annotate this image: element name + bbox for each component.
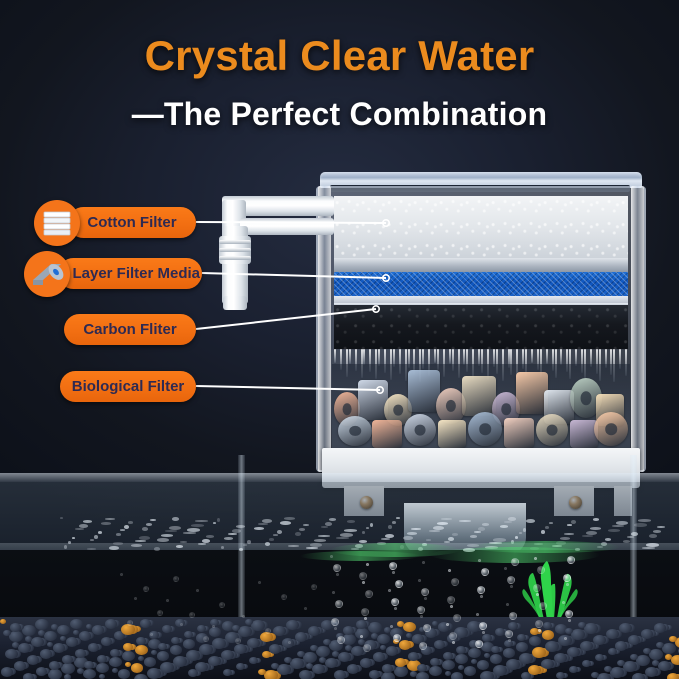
air-bubble: [424, 597, 427, 600]
gravel-pebble: [61, 663, 75, 674]
gravel-pebble: [140, 619, 151, 628]
gravel-pebble: [316, 646, 330, 657]
air-bubble: [333, 564, 341, 572]
surface-foam: [299, 528, 305, 531]
page-title: Crystal Clear Water: [0, 32, 679, 80]
gravel-pebble: [22, 625, 36, 636]
intake-pipe: [214, 196, 334, 486]
water-drip: [349, 349, 351, 364]
air-bubble: [481, 568, 489, 576]
water-spray-highlight: [300, 551, 420, 561]
gravel-pebble: [62, 655, 73, 664]
gravel-pebble: [595, 654, 604, 661]
surface-foam: [452, 533, 458, 536]
air-bubble: [389, 562, 397, 570]
gravel-pebble: [264, 670, 278, 679]
air-bubble: [476, 613, 479, 616]
air-bubble: [508, 639, 511, 642]
callout-label[interactable]: Carbon Fliter: [64, 314, 196, 345]
surface-foam: [280, 521, 291, 525]
gravel-pebble: [394, 666, 408, 677]
surface-foam: [370, 523, 373, 527]
gravel-pebble: [443, 652, 453, 660]
air-bubble: [535, 620, 543, 628]
gravel-pebble: [151, 650, 157, 655]
air-bubble: [567, 556, 575, 564]
gravel-pebble: [556, 672, 565, 679]
gravel-pebble: [66, 637, 78, 647]
surface-foam: [239, 548, 243, 551]
gravel-pebble: [517, 634, 526, 641]
product-marketing-image: Crystal Clear Water —The Perfect Combina…: [0, 0, 679, 679]
surface-foam: [388, 525, 392, 529]
surface-foam: [549, 522, 553, 524]
surface-foam: [213, 522, 216, 524]
pipe-ribbed-connector: [219, 236, 251, 264]
gravel-pebble: [649, 649, 663, 660]
gravel-pebble: [360, 658, 372, 668]
surface-foam: [407, 532, 417, 535]
surface-foam: [500, 525, 508, 528]
surface-foam: [254, 527, 264, 530]
gravel-pebble: [138, 656, 144, 661]
air-bubble: [539, 602, 547, 610]
surface-foam: [411, 528, 421, 530]
gravel-pebble: [410, 671, 417, 677]
surface-foam: [396, 517, 400, 519]
air-bubble: [449, 632, 457, 640]
gravel-pebble: [40, 649, 52, 659]
surface-foam: [657, 526, 665, 528]
gravel-pebble: [628, 635, 640, 645]
water-drip: [531, 349, 533, 363]
gravel-pebble: [135, 645, 148, 655]
surface-foam: [582, 535, 593, 537]
callout-2[interactable]: 8 Layer Filter Media: [58, 258, 202, 289]
gravel-pebble: [480, 671, 494, 679]
air-bubble: [478, 559, 481, 562]
gravel-pebble: [397, 621, 404, 627]
surface-foam: [381, 538, 390, 540]
air-bubble: [477, 586, 485, 594]
gravel-pebble: [343, 626, 354, 635]
surface-foam: [519, 532, 522, 534]
gravel-pebble: [373, 652, 385, 662]
air-bubble: [364, 617, 367, 620]
gravel-pebble: [332, 651, 339, 657]
air-bubble: [538, 629, 541, 632]
air-bubble: [335, 600, 343, 608]
gravel-pebble: [451, 672, 463, 679]
gravel-pebble: [377, 634, 390, 644]
gravel-pebble: [47, 642, 53, 647]
gravel-pebble: [543, 622, 552, 629]
air-bubble: [143, 586, 149, 592]
surface-foam: [128, 521, 133, 524]
gravel-pebble: [380, 645, 386, 650]
air-bubble: [392, 571, 395, 574]
surface-foam: [90, 539, 94, 541]
gravel-pebble: [79, 631, 91, 641]
gravel-pebble: [1, 667, 13, 677]
surface-foam: [277, 530, 282, 534]
page-subtitle: —The Perfect Combination: [0, 96, 679, 133]
gravel-pebble: [97, 655, 107, 663]
surface-foam: [236, 525, 245, 528]
air-bubble: [150, 633, 153, 636]
surface-foam: [310, 543, 322, 547]
surface-foam: [183, 532, 196, 534]
gravel-pebble: [641, 629, 653, 639]
gravel-pebble: [223, 669, 232, 676]
bio-media-piece: [462, 376, 496, 416]
surface-foam: [64, 545, 67, 549]
pipe-rib: [219, 240, 251, 244]
surface-foam: [564, 533, 574, 535]
carbon-filter-layer: [334, 305, 628, 349]
air-bubble: [157, 610, 163, 616]
gravel-pebble: [490, 654, 502, 664]
surface-foam: [362, 531, 365, 534]
gravel-pebble: [136, 637, 146, 645]
surface-foam: [560, 537, 570, 540]
gravel-pebble: [347, 664, 359, 674]
surface-foam: [631, 532, 638, 536]
surface-foam: [172, 517, 179, 521]
gravel-pebble: [96, 663, 109, 673]
surface-foam: [303, 524, 309, 526]
surface-foam: [146, 523, 152, 526]
gravel-pebble: [408, 652, 419, 661]
surface-foam: [83, 520, 92, 523]
callout-label[interactable]: Biological Filter: [60, 371, 196, 402]
air-bubble: [388, 589, 391, 592]
air-bubble: [534, 557, 537, 560]
surface-foam: [586, 531, 597, 535]
callout-label[interactable]: 8 Layer Filter Media: [58, 258, 202, 289]
surface-foam: [161, 534, 173, 537]
air-bubble: [423, 624, 431, 632]
surface-foam: [187, 528, 200, 532]
gravel-pebble: [88, 643, 99, 652]
air-bubble: [533, 584, 541, 592]
gravel-pebble: [319, 657, 326, 663]
gravel-pebble: [369, 670, 380, 679]
surface-foam: [515, 536, 518, 539]
bio-media-piece: [504, 418, 534, 448]
gravel-pebble: [44, 631, 57, 641]
surface-foam: [191, 524, 204, 527]
surface-foam: [347, 520, 355, 523]
surface-foam: [75, 528, 84, 530]
gravel-pebble: [197, 625, 206, 632]
gravel-pebble: [516, 642, 528, 652]
air-bubble: [332, 591, 335, 594]
surface-foam: [441, 518, 452, 520]
gravel-pebble: [455, 654, 468, 664]
water-drip: [434, 349, 436, 363]
gravel-pebble: [582, 660, 591, 667]
gravel-pebble: [269, 644, 281, 654]
surface-foam: [87, 548, 96, 550]
air-bubble: [418, 579, 421, 582]
air-bubble: [422, 561, 425, 564]
surface-foam: [608, 529, 620, 532]
gravel-pebble: [64, 674, 71, 679]
gravel-pebble: [334, 670, 346, 679]
callout-4[interactable]: Biological Filter: [60, 371, 196, 402]
gravel-pebble: [14, 661, 26, 671]
tank-glass-upper: [0, 482, 679, 550]
gravel-pebble: [569, 666, 578, 673]
air-bubble: [366, 563, 369, 566]
air-bubble: [219, 602, 225, 608]
surface-foam: [139, 536, 150, 540]
gravel-pebble: [48, 669, 62, 679]
air-bubble: [196, 589, 199, 592]
gravel-pebble: [86, 624, 92, 629]
surface-foam: [202, 539, 210, 543]
surface-foam: [258, 523, 268, 525]
gravel-pebble: [36, 667, 47, 676]
gravel-pebble: [25, 636, 32, 642]
air-bubble: [510, 585, 513, 588]
surface-foam: [392, 521, 396, 524]
gravel-pebble: [53, 643, 65, 653]
surface-foam: [142, 527, 148, 531]
bio-media-piece: [594, 412, 628, 446]
surface-foam: [429, 530, 440, 532]
bio-media-piece: [438, 420, 466, 448]
air-bubble: [166, 599, 169, 602]
gravel-pebble: [434, 640, 445, 649]
gravel-pebble: [9, 631, 23, 642]
air-bubble: [360, 635, 363, 638]
gravel-pebble: [471, 659, 477, 664]
surface-foam: [627, 536, 634, 538]
gravel-pebble: [356, 620, 367, 629]
surface-foam: [649, 534, 657, 538]
air-bubble: [479, 622, 487, 630]
housing-post-right: [631, 186, 644, 472]
surface-foam: [318, 535, 330, 537]
surface-foam: [232, 529, 241, 533]
gravel-pebble: [495, 628, 505, 636]
gravel-pebble: [131, 663, 143, 673]
air-bubble: [395, 580, 403, 588]
bio-media-piece: [536, 414, 568, 446]
air-bubble: [504, 567, 507, 570]
surface-foam: [321, 526, 328, 528]
surface-foam: [273, 534, 278, 536]
surface-foam: [109, 546, 119, 550]
surface-foam: [198, 543, 206, 545]
surface-foam: [195, 520, 208, 522]
surface-foam: [653, 530, 661, 533]
surface-foam: [478, 527, 485, 531]
surface-foam: [72, 537, 75, 539]
surface-foam: [217, 518, 220, 522]
gravel-pebble: [295, 632, 307, 642]
cotton-filter-layer: [334, 196, 628, 258]
surface-foam: [157, 538, 169, 542]
air-bubble: [482, 631, 485, 634]
air-bubble: [361, 608, 369, 616]
air-bubble: [173, 576, 179, 582]
water-drip: [334, 349, 336, 363]
gravel-pebble: [60, 636, 66, 641]
rolled-filter-media-icon: [24, 251, 70, 297]
surface-foam: [571, 520, 576, 524]
gravel-pebble: [170, 645, 182, 655]
gravel-pebble: [92, 625, 104, 635]
gravel-pebble: [49, 661, 60, 670]
air-bubble: [203, 636, 209, 642]
surface-foam: [262, 519, 272, 523]
gravel-pebble: [125, 662, 131, 667]
gravel-pebble: [381, 672, 395, 679]
callout-label[interactable]: Cotton Filter: [68, 207, 196, 238]
air-bubble: [446, 623, 449, 626]
air-bubble: [505, 630, 513, 638]
surface-foam: [616, 521, 628, 525]
gravel-pebble: [70, 619, 83, 629]
surface-foam: [474, 531, 481, 533]
gravel-pebble: [57, 625, 70, 635]
surface-foam: [504, 521, 512, 523]
callout-1[interactable]: Cotton Filter: [68, 207, 196, 238]
surface-foam: [366, 527, 369, 529]
surface-foam: [79, 524, 88, 528]
air-bubble: [212, 625, 215, 628]
surface-foam: [94, 535, 98, 539]
air-bubble: [565, 610, 573, 618]
surface-foam: [131, 544, 142, 547]
gravel-pebble: [84, 661, 94, 669]
gravel-pebble: [123, 643, 133, 651]
surface-foam: [180, 541, 187, 543]
surface-foam: [444, 541, 450, 543]
gravel-pebble: [209, 627, 221, 637]
gravel-pebble: [464, 666, 476, 676]
gravel-pebble: [112, 668, 118, 673]
surface-foam: [165, 530, 177, 532]
air-bubble: [448, 569, 451, 572]
surface-foam: [306, 547, 318, 549]
surface-foam: [60, 517, 63, 519]
gravel-pebble: [184, 631, 193, 638]
air-bubble: [242, 615, 245, 618]
surface-foam: [135, 540, 146, 542]
surface-foam: [646, 543, 659, 547]
gravel-pebble: [632, 673, 645, 679]
tank-rim: [0, 473, 679, 482]
air-bubble: [258, 581, 261, 584]
surface-foam: [228, 533, 237, 535]
air-bubble: [564, 637, 567, 640]
surface-foam: [340, 533, 353, 537]
air-bubble: [180, 623, 183, 626]
air-bubble: [134, 597, 137, 600]
air-bubble: [475, 640, 483, 648]
gravel-pebble: [236, 663, 245, 670]
air-bubble: [568, 619, 571, 622]
air-bubble: [288, 641, 291, 644]
gravel-pebble: [529, 636, 541, 646]
air-bubble: [506, 603, 509, 606]
bio-media-piece: [404, 414, 436, 446]
air-bubble: [331, 618, 339, 626]
surface-foam: [288, 545, 299, 547]
gravel-pebble: [122, 651, 135, 661]
gravel-pebble: [429, 666, 442, 676]
surface-foam: [116, 533, 121, 536]
surface-foam: [541, 530, 545, 534]
gravel-pebble: [144, 657, 156, 667]
air-bubble: [420, 615, 423, 618]
gravel-pebble: [403, 622, 416, 632]
filter-media-layer: [334, 272, 628, 296]
surface-foam: [526, 519, 535, 523]
surface-foam: [295, 532, 301, 536]
surface-foam: [593, 518, 599, 521]
air-bubble: [451, 578, 459, 586]
surface-foam: [314, 539, 326, 542]
air-bubble: [563, 574, 571, 582]
gravel-pebble: [503, 648, 515, 658]
air-bubble: [336, 573, 339, 576]
air-bubble: [281, 594, 287, 600]
air-bubble: [480, 595, 483, 598]
air-bubble: [453, 614, 461, 622]
bio-media-piece: [468, 412, 502, 446]
air-bubble: [362, 581, 365, 584]
gravel-pebble: [665, 654, 672, 660]
gravel-pebble: [75, 649, 86, 658]
gravel-pebble: [417, 664, 427, 672]
air-bubble: [311, 584, 317, 590]
air-bubble: [265, 628, 271, 634]
surface-foam: [169, 526, 181, 530]
air-bubble: [394, 607, 397, 610]
callout-3[interactable]: Carbon Fliter: [64, 314, 196, 345]
gravel-pebble: [456, 646, 466, 654]
gravel-pebble: [306, 663, 313, 669]
air-bubble: [334, 627, 337, 630]
surface-foam: [642, 547, 655, 549]
surface-foam: [120, 529, 125, 531]
gravel-pebble: [416, 672, 429, 679]
gravel-pebble: [667, 673, 679, 679]
surface-foam: [482, 523, 489, 526]
gravel-pebble: [508, 622, 518, 630]
gravel-pebble: [406, 633, 412, 638]
surface-foam: [433, 526, 444, 530]
surface-foam: [344, 529, 357, 532]
surface-foam: [385, 534, 394, 538]
surface-foam: [623, 540, 630, 543]
gravel-pebble: [652, 660, 659, 666]
surface-foam: [437, 522, 448, 525]
air-bubble: [452, 641, 455, 644]
surface-foam: [325, 522, 332, 526]
gravel-pebble: [382, 664, 393, 673]
gravel-pebble: [442, 660, 455, 670]
air-bubble: [330, 555, 333, 558]
pipe-rib: [219, 256, 251, 260]
air-bubble: [507, 576, 515, 584]
aquarium-tank: [0, 455, 679, 679]
